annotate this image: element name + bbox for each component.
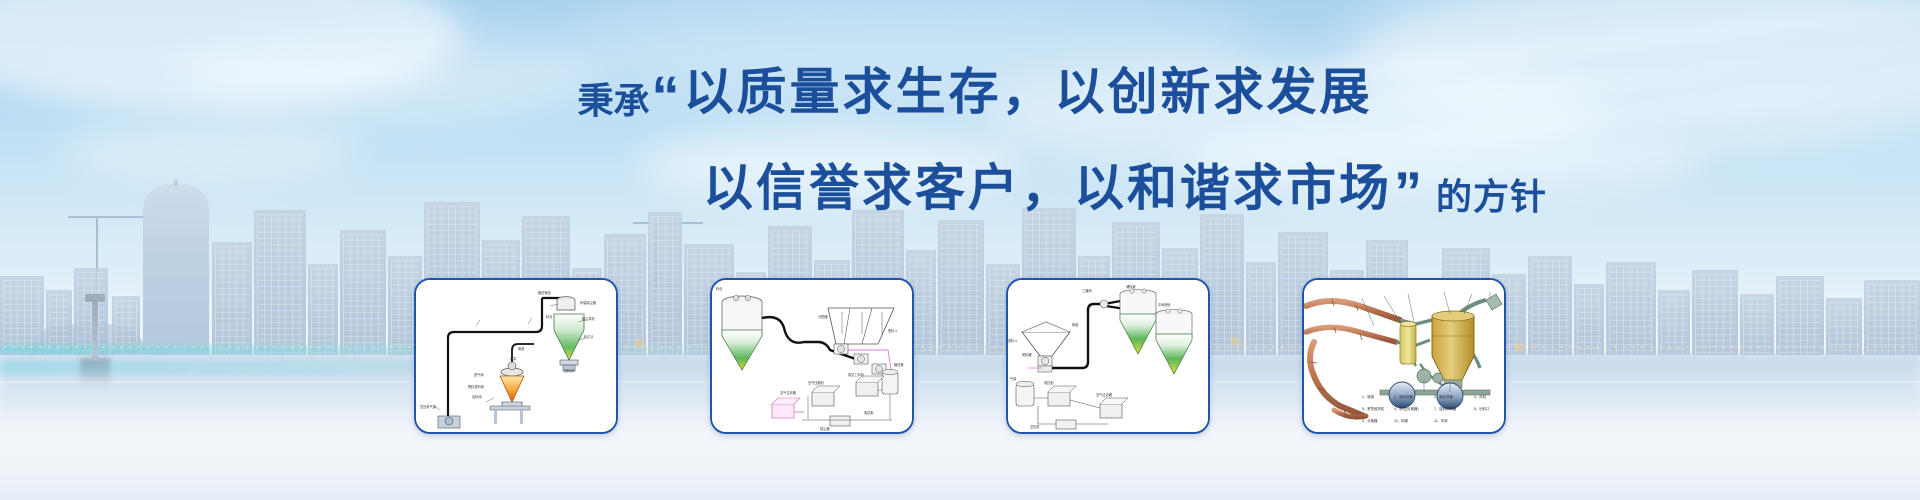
svg-text:进料斗: 进料斗 bbox=[1008, 338, 1018, 343]
headline-suffix: 的方针 bbox=[1426, 176, 1547, 217]
svg-text:受料器: 受料器 bbox=[1022, 352, 1032, 357]
open-quote: “ bbox=[652, 64, 682, 127]
headline-line-1: 秉承 “ 以质量求生存，以创新求发展 bbox=[0, 52, 1920, 124]
diagram-card-2[interactable]: 料仓 分配器 受料斗 输送管 真空上料机 空气压缩机 空气过滤器 电控柜 除尘器 bbox=[710, 278, 914, 434]
svg-text:8、出料口: 8、出料口 bbox=[1474, 406, 1489, 411]
svg-text:1、吸嘴: 1、吸嘴 bbox=[1362, 394, 1375, 399]
svg-text:3、吸料弯管: 3、吸料弯管 bbox=[1434, 394, 1453, 399]
pneumatic-conveying-diagram-1: 输送管道 布袋除尘器 除尘风机 料位计 料仓 仓泵 进气阀 物料进料阀 出料阀 … bbox=[416, 280, 616, 432]
diagram-card-4[interactable]: 1、吸嘴 2、吸料软管 3、吸料弯管 4、风机 5、罗茨鼓风机 6、料位(分离器… bbox=[1302, 278, 1506, 434]
svg-text:料位计: 料位计 bbox=[584, 334, 594, 339]
svg-text:输送管道: 输送管道 bbox=[538, 290, 552, 295]
banner: 秉承 “ 以质量求生存，以创新求发展 以信誉求客户，以和谐求市场 ” 的方针 bbox=[0, 0, 1920, 500]
svg-text:10、料罐: 10、料罐 bbox=[1394, 418, 1409, 423]
svg-text:空气压缩机: 空气压缩机 bbox=[808, 380, 825, 385]
svg-text:出料阀: 出料阀 bbox=[564, 368, 574, 373]
headline-line-2-text: 以信誉求客户，以和谐求市场 bbox=[703, 160, 1392, 216]
vehicle-mounted-conveyor-diagram: 1、吸嘴 2、吸料软管 3、吸料弯管 4、风机 5、罗茨鼓风机 6、料位(分离器… bbox=[1304, 280, 1504, 432]
svg-text:7、旋转供料器: 7、旋转供料器 bbox=[1434, 406, 1457, 411]
svg-text:管道: 管道 bbox=[518, 346, 525, 351]
headline-prefix: 秉承 bbox=[577, 80, 649, 121]
pneumatic-conveying-diagram-2: 料仓 分配器 受料斗 输送管 真空上料机 空气压缩机 空气过滤器 电控柜 除尘器 bbox=[712, 280, 912, 432]
svg-text:管道: 管道 bbox=[1072, 322, 1079, 327]
svg-text:空压机气源: 空压机气源 bbox=[420, 404, 437, 409]
pneumatic-conveying-diagram-3: 三通阀 储料罐 中间储仓 管道 进料斗 受料器 气源 电控柜 空气过滤器 空压机 bbox=[1008, 280, 1208, 432]
diagram-card-1[interactable]: 输送管道 布袋除尘器 除尘风机 料位计 料仓 仓泵 进气阀 物料进料阀 出料阀 … bbox=[414, 278, 618, 434]
svg-text:三通阀: 三通阀 bbox=[1082, 288, 1092, 293]
diagram-card-list: 输送管道 布袋除尘器 除尘风机 料位计 料仓 仓泵 进气阀 物料进料阀 出料阀 … bbox=[0, 278, 1920, 438]
svg-text:料仓: 料仓 bbox=[716, 286, 723, 291]
svg-text:除尘风机: 除尘风机 bbox=[582, 316, 596, 321]
svg-text:分配器: 分配器 bbox=[818, 314, 828, 319]
svg-text:空气过滤器: 空气过滤器 bbox=[1096, 392, 1113, 397]
svg-text:中间储仓: 中间储仓 bbox=[1158, 302, 1172, 307]
svg-text:料仓: 料仓 bbox=[546, 314, 553, 319]
svg-text:11、车架: 11、车架 bbox=[1434, 418, 1448, 423]
svg-text:进气阀: 进气阀 bbox=[474, 372, 484, 377]
svg-text:空压机: 空压机 bbox=[1030, 424, 1040, 429]
diagram-card-3[interactable]: 三通阀 储料罐 中间储仓 管道 进料斗 受料器 气源 电控柜 空气过滤器 空压机 bbox=[1006, 278, 1210, 434]
svg-text:仓泵: 仓泵 bbox=[510, 356, 517, 361]
headline-line-1-text: 以质量求生存，以创新求发展 bbox=[684, 64, 1373, 120]
svg-text:除尘器: 除尘器 bbox=[820, 426, 830, 431]
svg-text:输送管: 输送管 bbox=[894, 362, 904, 367]
svg-text:布袋除尘器: 布袋除尘器 bbox=[580, 300, 597, 305]
svg-text:2、吸料软管: 2、吸料软管 bbox=[1394, 394, 1413, 399]
headline: 秉承 “ 以质量求生存，以创新求发展 以信誉求客户，以和谐求市场 ” 的方针 bbox=[0, 52, 1920, 220]
svg-text:出料阀: 出料阀 bbox=[472, 394, 482, 399]
svg-text:电控柜: 电控柜 bbox=[864, 410, 874, 415]
svg-text:9、分离器: 9、分离器 bbox=[1362, 418, 1378, 423]
svg-text:物料进料阀: 物料进料阀 bbox=[468, 384, 484, 389]
svg-text:空气过滤器: 空气过滤器 bbox=[780, 390, 797, 395]
close-quote: ” bbox=[1394, 160, 1424, 223]
svg-text:受料斗: 受料斗 bbox=[888, 328, 898, 333]
svg-text:储料罐: 储料罐 bbox=[1126, 284, 1136, 289]
svg-text:5、罗茨鼓风机: 5、罗茨鼓风机 bbox=[1362, 406, 1385, 411]
headline-line-2: 以信誉求客户，以和谐求市场 ” 的方针 bbox=[0, 148, 1920, 220]
svg-text:6、料位(分离器): 6、料位(分离器) bbox=[1394, 406, 1419, 411]
svg-text:气源: 气源 bbox=[1010, 376, 1017, 381]
water-band bbox=[0, 451, 1920, 453]
svg-text:4、风机: 4、风机 bbox=[1474, 394, 1487, 399]
svg-text:真空上料机: 真空上料机 bbox=[848, 372, 865, 377]
svg-text:电控柜: 电控柜 bbox=[1044, 380, 1054, 385]
